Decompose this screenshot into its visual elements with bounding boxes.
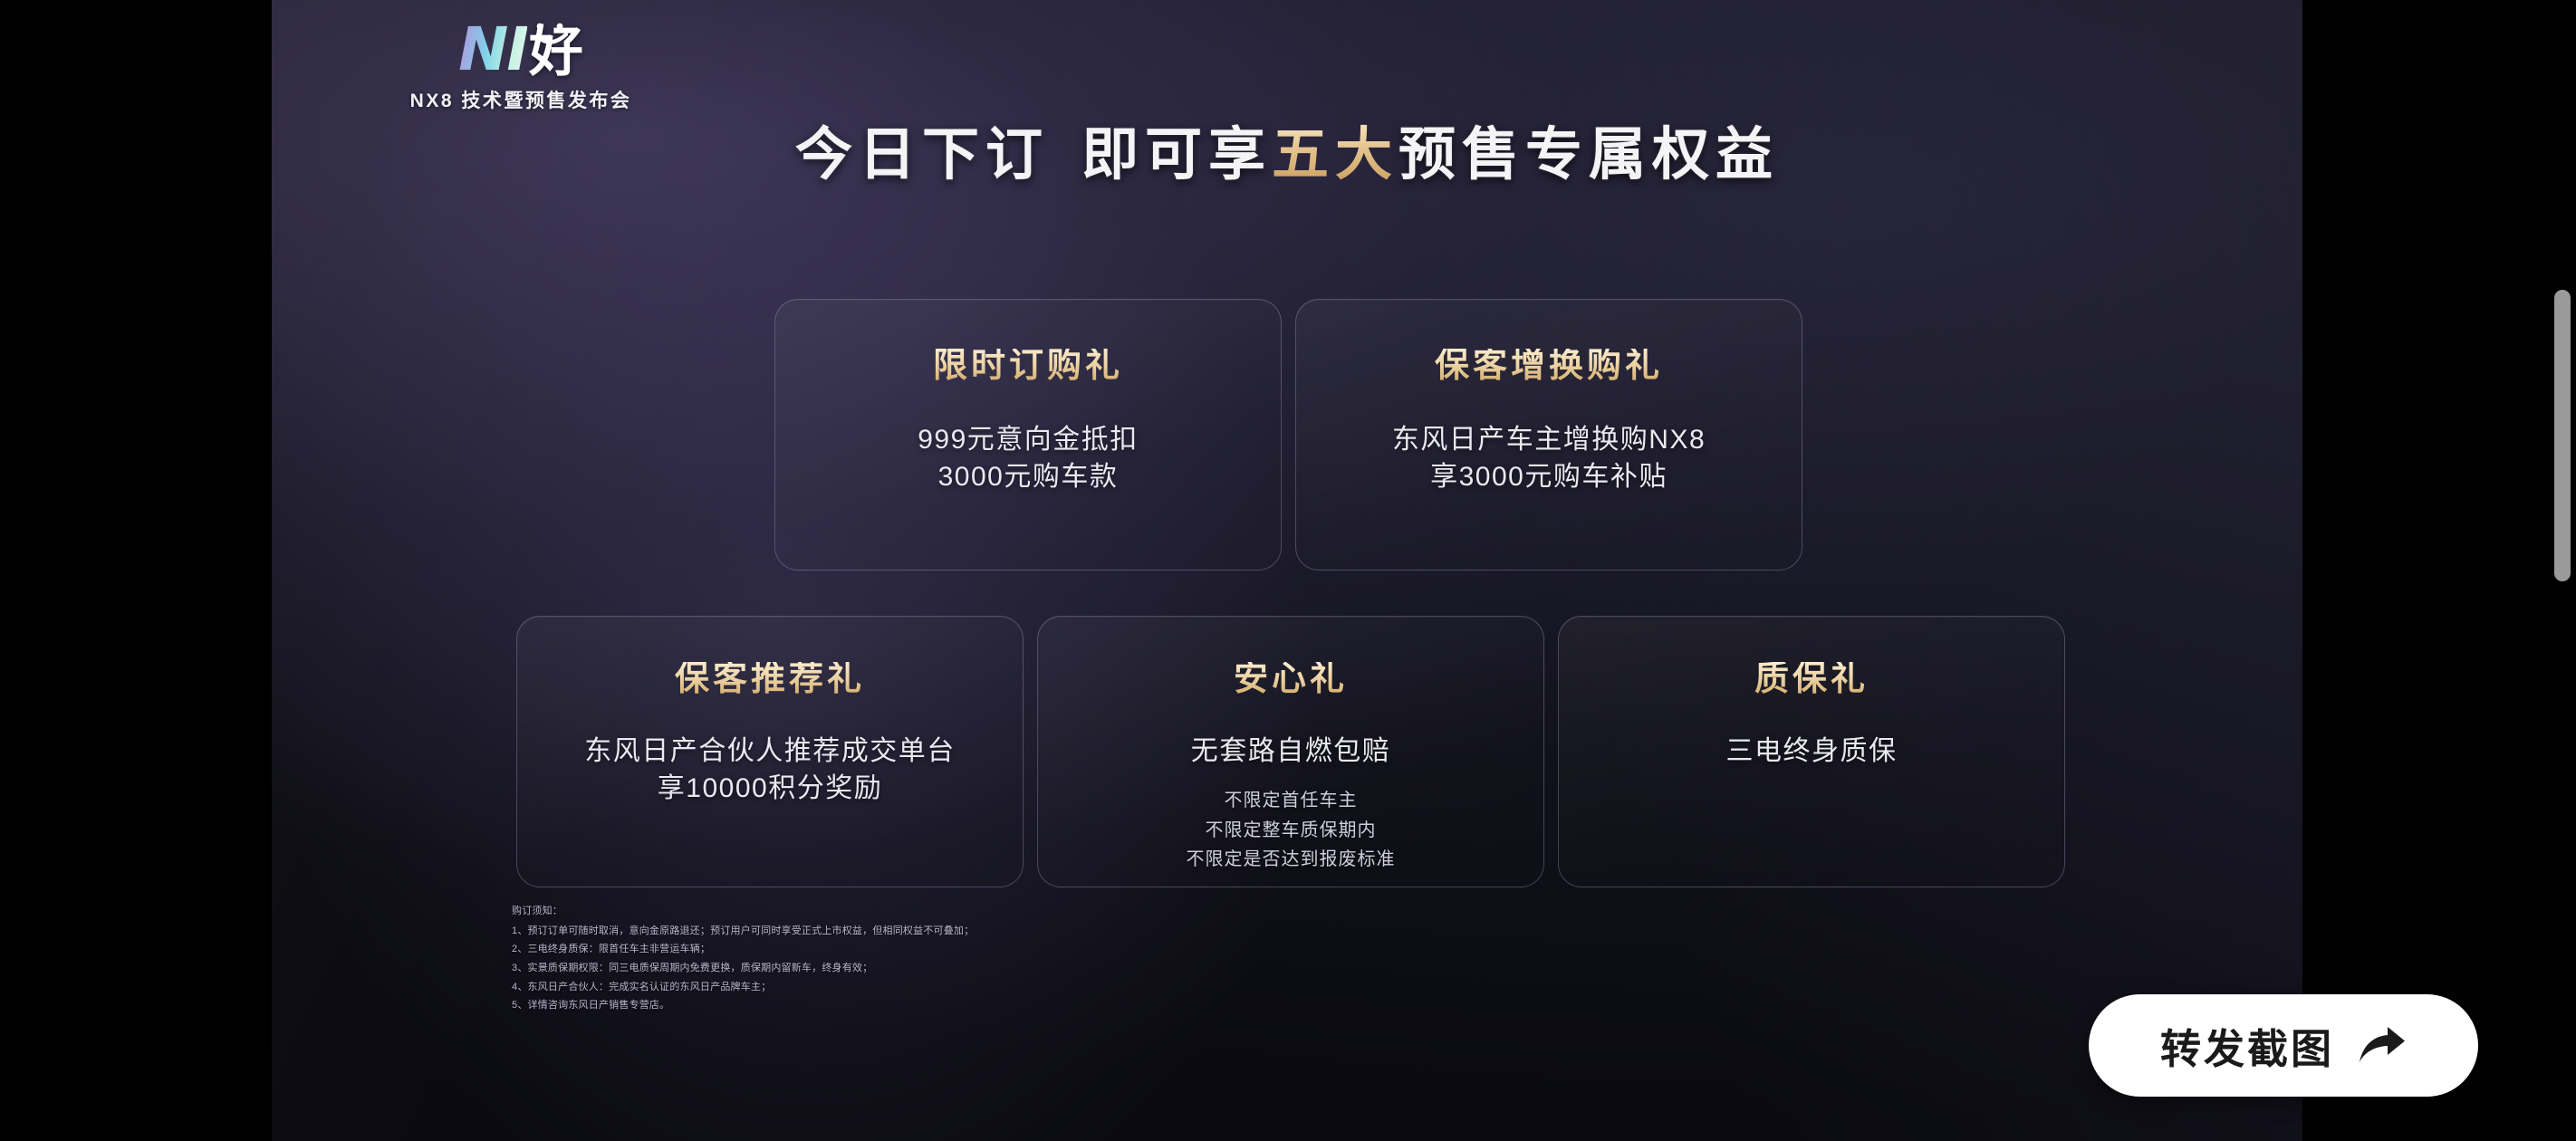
fine-print-item: 1、预订订单可随时取消，意向金原路退还；预订用户可同时享受正式上市权益，但相同权… xyxy=(512,922,974,941)
benefit-card-line: 东风日产合伙人推荐成交单台 xyxy=(517,733,1023,770)
benefit-card-sub: 不限定是否达到报废标准 xyxy=(1038,845,1543,874)
benefit-card-line: 享10000积分奖励 xyxy=(517,770,1023,807)
logo-ni-text: NI xyxy=(458,20,527,80)
benefit-card-owner-upgrade-gift[interactable]: 保客增换购礼 东风日产车主增换购NX8 享3000元购车补贴 xyxy=(1295,299,1802,570)
fine-print-item: 2、三电终身质保：限首任车主非营运车辆； xyxy=(512,940,974,959)
benefit-card-peace-of-mind-gift[interactable]: 安心礼 无套路自燃包赔 不限定首任车主 不限定整车质保期内 不限定是否达到报废标… xyxy=(1037,616,1544,887)
benefit-card-lines: 东风日产车主增换购NX8 享3000元购车补贴 xyxy=(1296,421,1802,496)
benefit-card-title: 保客增换购礼 xyxy=(1296,349,1802,383)
headline-part-3: 预售专属权益 xyxy=(1399,123,1779,187)
benefit-card-line: 东风日产车主增换购NX8 xyxy=(1296,421,1802,458)
headline-highlight: 五大 xyxy=(1272,123,1399,187)
smile-icon xyxy=(532,20,573,51)
vertical-scrollbar-thumb[interactable] xyxy=(2554,290,2571,581)
benefit-card-title: 安心礼 xyxy=(1038,662,1543,696)
benefit-card-line: 无套路自燃包赔 xyxy=(1038,733,1543,770)
share-button-label: 转发截图 xyxy=(2160,1016,2334,1075)
fine-print-item: 3、实景质保期权限：同三电质保周期内免费更换，质保期内留新车，终身有效； xyxy=(512,959,974,978)
page-title: 今日下订即可享五大预售专属权益 xyxy=(272,109,2302,191)
promo-slide: NI 好 NX8 技术暨预售发布会 今日下订即可享五大预售专属权益 限时订购礼 … xyxy=(272,0,2302,1141)
fine-print-heading: 购订须知： xyxy=(512,902,974,921)
benefit-card-title: 质保礼 xyxy=(1559,662,2064,696)
share-arrow-icon xyxy=(2358,1025,2407,1067)
benefit-card-warranty-gift[interactable]: 质保礼 三电终身质保 xyxy=(1558,616,2065,887)
benefit-card-line: 三电终身质保 xyxy=(1559,733,2064,770)
logo-mark: NI 好 xyxy=(376,7,666,80)
headline-part-2: 即可享 xyxy=(1081,123,1272,187)
benefit-card-sub: 不限定首任车主 xyxy=(1038,786,1543,815)
benefit-card-line: 3000元购车款 xyxy=(775,458,1281,495)
benefit-card-title: 保客推荐礼 xyxy=(517,662,1023,696)
fine-print-item: 5、详情咨询东风日产销售专营店。 xyxy=(512,996,974,1015)
fine-print-item: 4、东风日产合伙人：完成实名认证的东风日产品牌车主； xyxy=(512,978,974,997)
benefit-card-line: 999元意向金抵扣 xyxy=(775,421,1281,458)
event-logo: NI 好 NX8 技术暨预售发布会 xyxy=(376,7,666,113)
share-screenshot-button[interactable]: 转发截图 xyxy=(2089,994,2478,1097)
benefit-card-lines: 999元意向金抵扣 3000元购车款 xyxy=(775,421,1281,496)
benefit-card-line: 享3000元购车补贴 xyxy=(1296,458,1802,495)
benefit-card-lines: 无套路自燃包赔 xyxy=(1038,733,1543,770)
fine-print-block: 购订须知： 1、预订订单可随时取消，意向金原路退还；预订用户可同时享受正式上市权… xyxy=(512,902,974,1015)
benefit-card-subs: 不限定首任车主 不限定整车质保期内 不限定是否达到报废标准 xyxy=(1038,786,1543,874)
headline-part-1: 今日下订 xyxy=(795,123,1049,187)
benefit-card-lines: 东风日产合伙人推荐成交单台 享10000积分奖励 xyxy=(517,733,1023,808)
benefit-card-title: 限时订购礼 xyxy=(775,349,1281,383)
screen-stage: NI 好 NX8 技术暨预售发布会 今日下订即可享五大预售专属权益 限时订购礼 … xyxy=(0,0,2576,1141)
benefit-card-sub: 不限定整车质保期内 xyxy=(1038,816,1543,845)
benefit-card-limited-order-gift[interactable]: 限时订购礼 999元意向金抵扣 3000元购车款 xyxy=(774,299,1282,570)
benefit-card-owner-referral-gift[interactable]: 保客推荐礼 东风日产合伙人推荐成交单台 享10000积分奖励 xyxy=(516,616,1024,887)
benefit-card-lines: 三电终身质保 xyxy=(1559,733,2064,770)
